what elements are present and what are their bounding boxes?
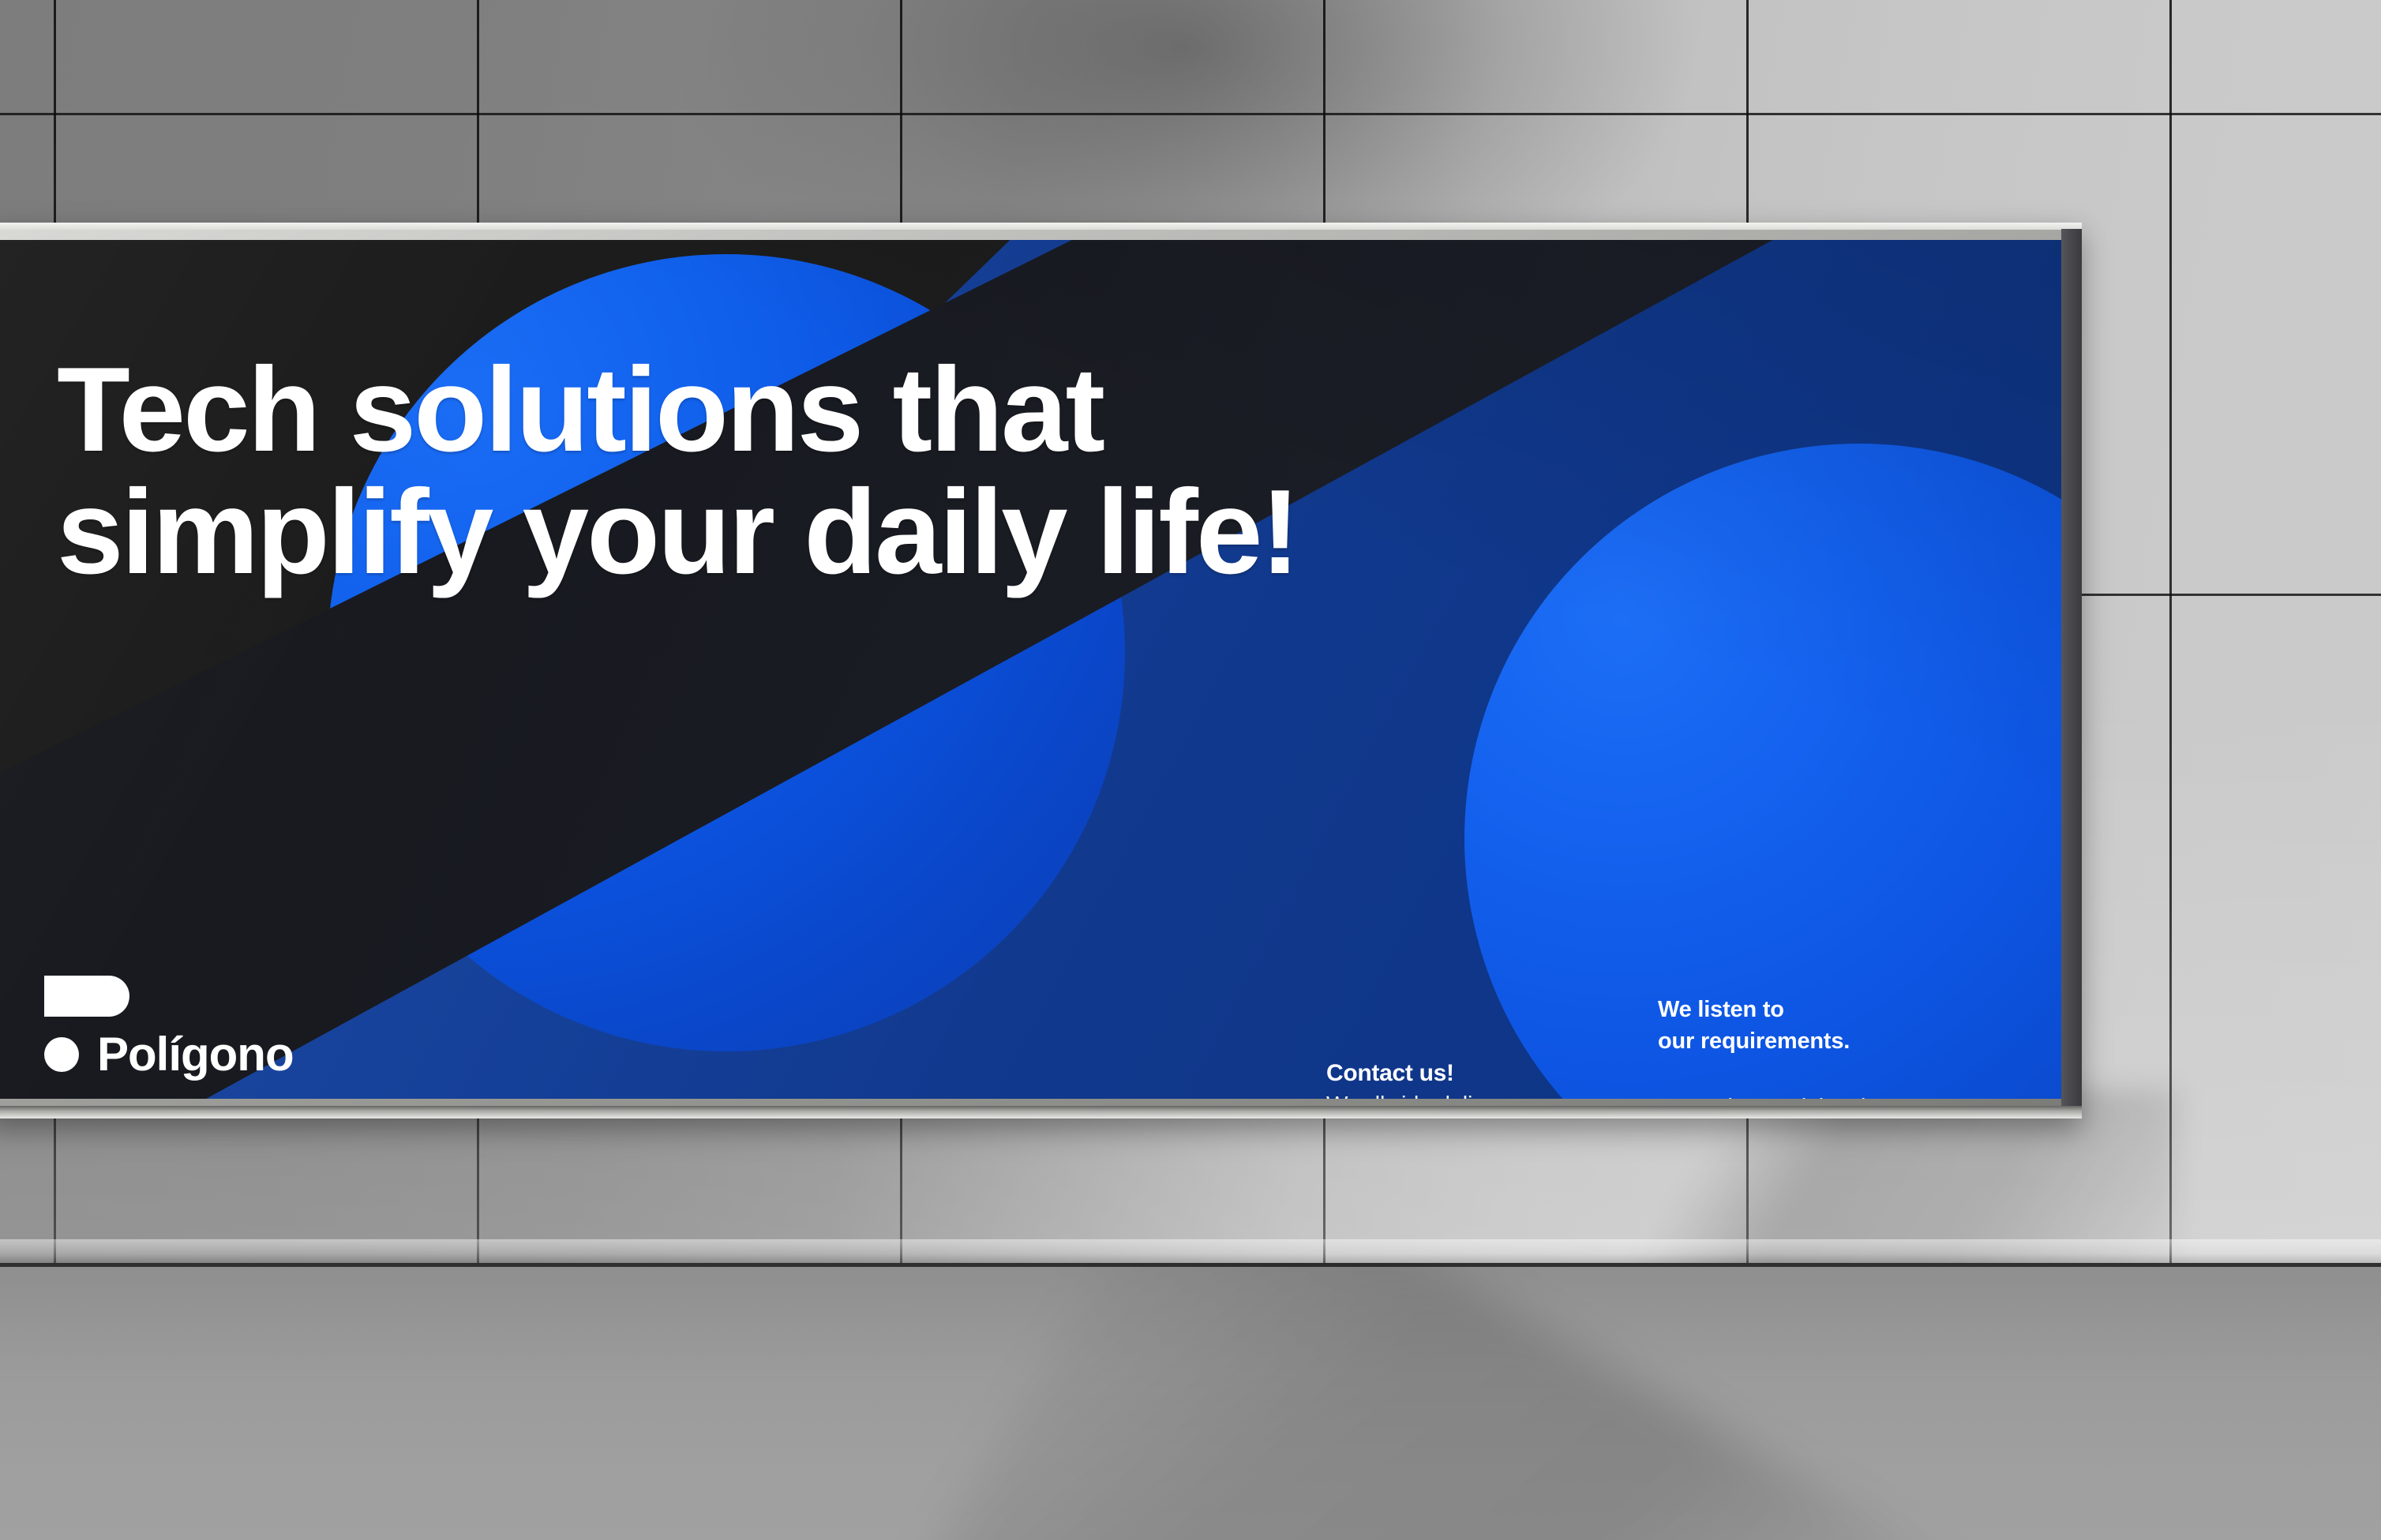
billboard-frame-right-depth xyxy=(2061,229,2082,1118)
brand-name: Polígono xyxy=(97,1031,294,1078)
contact-block: Contact us! Wordlwide delivery xyxy=(1326,1058,1515,1099)
logo-wordmark-row: Polígono xyxy=(44,1031,455,1078)
wall-baseboard xyxy=(0,1239,2381,1263)
logo-circle-icon xyxy=(44,1037,79,1072)
billboard-frame-bottom-edge xyxy=(0,1106,2082,1118)
contact-title: Contact us! xyxy=(1326,1058,1515,1090)
billboard-frame-top-highlight xyxy=(0,223,2082,230)
floor-shadow-right xyxy=(829,1263,2278,1540)
wall-seam-vertical-6 xyxy=(2169,0,2172,1263)
side-copy-heading: We listen to our requirements. xyxy=(1658,994,2029,1057)
floor-shadow-left xyxy=(0,1405,472,1540)
floor xyxy=(0,1263,2381,1540)
brand-logo[interactable]: Polígono xyxy=(44,976,455,1078)
side-copy-block: We listen to our requirements. Lorem ips… xyxy=(1658,994,2029,1099)
billboard[interactable]: Tech solutions that simplify your daily … xyxy=(0,223,2082,1118)
billboard-artwork: Tech solutions that simplify your daily … xyxy=(0,240,2061,1099)
contact-subtitle: Wordlwide delivery xyxy=(1326,1090,1515,1099)
side-copy-body: Lorem ipsum dolor sit amet, consct tuer … xyxy=(1658,1092,2029,1099)
wall-seam-horizontal-top xyxy=(0,113,2381,115)
logo-bar-icon xyxy=(44,976,129,1017)
billboard-mockup-scene: Tech solutions that simplify your daily … xyxy=(0,0,2381,1540)
billboard-headline: Tech solutions that simplify your daily … xyxy=(57,349,1636,594)
